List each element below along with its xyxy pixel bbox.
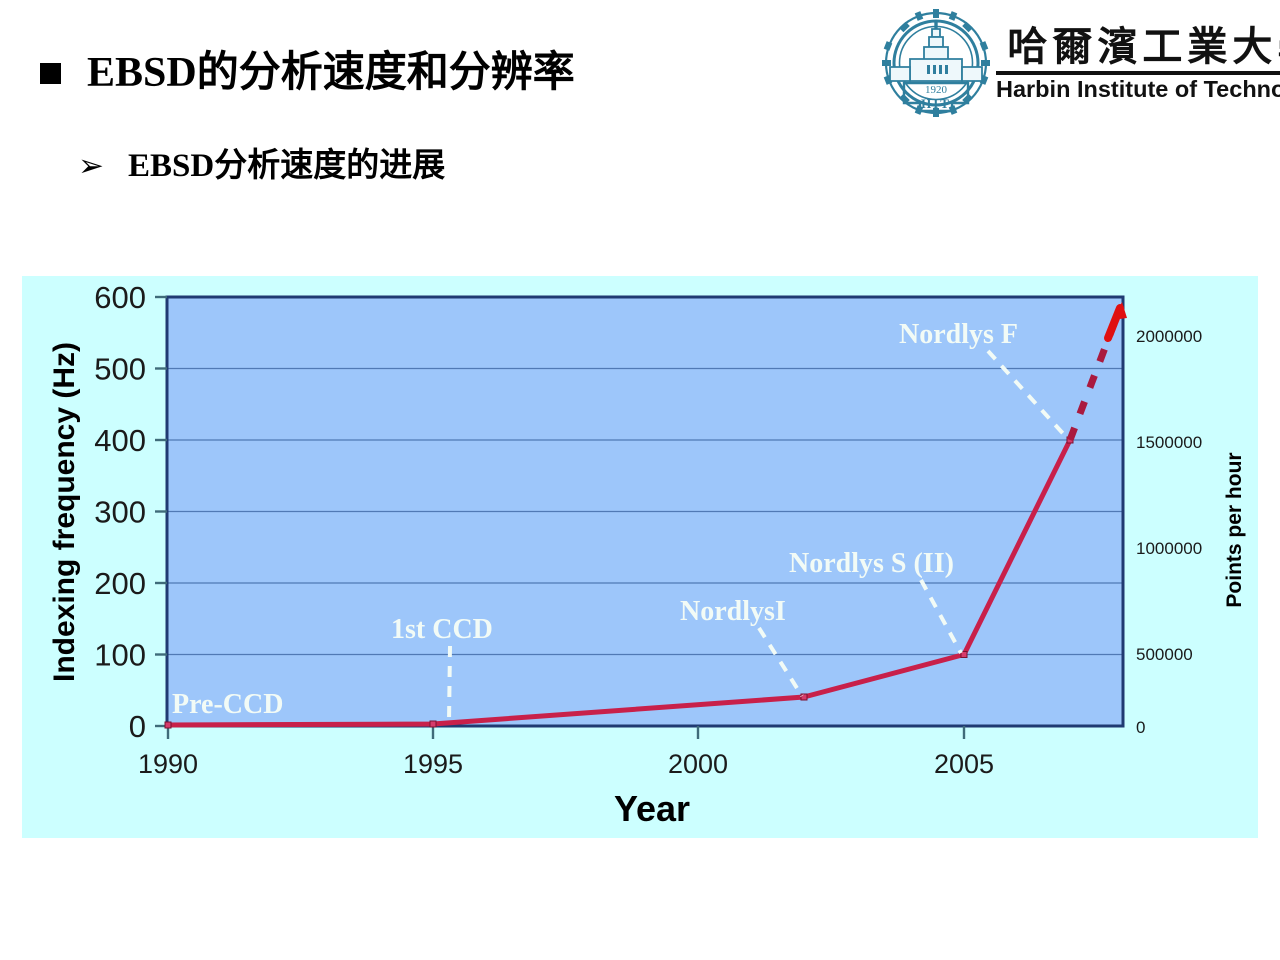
emblem-abbr-text: HIT bbox=[921, 96, 951, 111]
data-point bbox=[801, 694, 807, 700]
square-bullet-icon bbox=[40, 63, 61, 84]
arrow-bullet-icon: ➢ bbox=[78, 151, 104, 182]
y2-tick-label: 0 bbox=[1136, 718, 1145, 737]
y2-tick-label: 1500000 bbox=[1136, 433, 1202, 452]
page-subtitle: EBSD分析速度的进展 bbox=[128, 150, 445, 183]
y-tick-label: 300 bbox=[94, 495, 146, 530]
logo-wordmark: 哈爾濱工業大學 Harbin Institute of Technology bbox=[996, 24, 1280, 103]
x-tick-label: 2005 bbox=[934, 749, 994, 779]
logo-divider bbox=[996, 71, 1280, 75]
emblem-year-text: 1920 bbox=[925, 84, 948, 96]
logo-name-en: Harbin Institute of Technology bbox=[996, 77, 1280, 103]
logo-name-cn: 哈爾濱工業大學 bbox=[996, 26, 1280, 68]
y-tick-label: 600 bbox=[94, 280, 146, 315]
data-point bbox=[430, 721, 436, 727]
y2-tick-label: 500000 bbox=[1136, 645, 1193, 664]
x-tick-label: 1990 bbox=[138, 749, 198, 779]
slide-title-row: EBSD的分析速度和分辨率 bbox=[40, 52, 575, 94]
y-tick-label: 0 bbox=[129, 709, 146, 744]
annotation-nordlysi: NordlysI bbox=[680, 596, 786, 627]
ebsd-speed-line-chart: 600 500 400 300 200 100 0 1990 1995 2000… bbox=[22, 276, 1258, 838]
y-tick-label: 400 bbox=[94, 423, 146, 458]
annotation-1st-ccd: 1st CCD bbox=[391, 614, 493, 645]
y2-axis-title: Points per hour bbox=[1223, 452, 1246, 607]
y2-tick-label: 2000000 bbox=[1136, 327, 1202, 346]
y-axis-title: Indexing frequency (Hz) bbox=[48, 342, 81, 682]
chart-panel: 600 500 400 300 200 100 0 1990 1995 2000… bbox=[22, 276, 1258, 838]
data-point bbox=[165, 722, 171, 728]
y2-tick-label: 1000000 bbox=[1136, 539, 1202, 558]
x-axis-title: Year bbox=[614, 788, 690, 829]
slide-subtitle-row: ➢ EBSD分析速度的进展 bbox=[78, 150, 445, 183]
university-logo: 1920 HIT 哈爾濱工業大學 Harbin Institute of Tec… bbox=[880, 4, 1272, 122]
y-tick-label: 500 bbox=[94, 352, 146, 387]
x-tick-label: 1995 bbox=[403, 749, 463, 779]
annotation-pre-ccd: Pre-CCD bbox=[172, 689, 283, 720]
x-tick-label: 2000 bbox=[668, 749, 728, 779]
y-tick-label: 200 bbox=[94, 566, 146, 601]
page-title: EBSD的分析速度和分辨率 bbox=[87, 52, 575, 94]
hit-emblem-icon: 1920 HIT bbox=[880, 7, 992, 119]
y-tick-label: 100 bbox=[94, 638, 146, 673]
annotation-nordlys-f: Nordlys F bbox=[899, 319, 1018, 350]
annotation-nordlys-s: Nordlys S (II) bbox=[789, 548, 954, 579]
slide-header: EBSD的分析速度和分辨率 ➢ EBSD分析速度的进展 bbox=[0, 0, 1280, 230]
